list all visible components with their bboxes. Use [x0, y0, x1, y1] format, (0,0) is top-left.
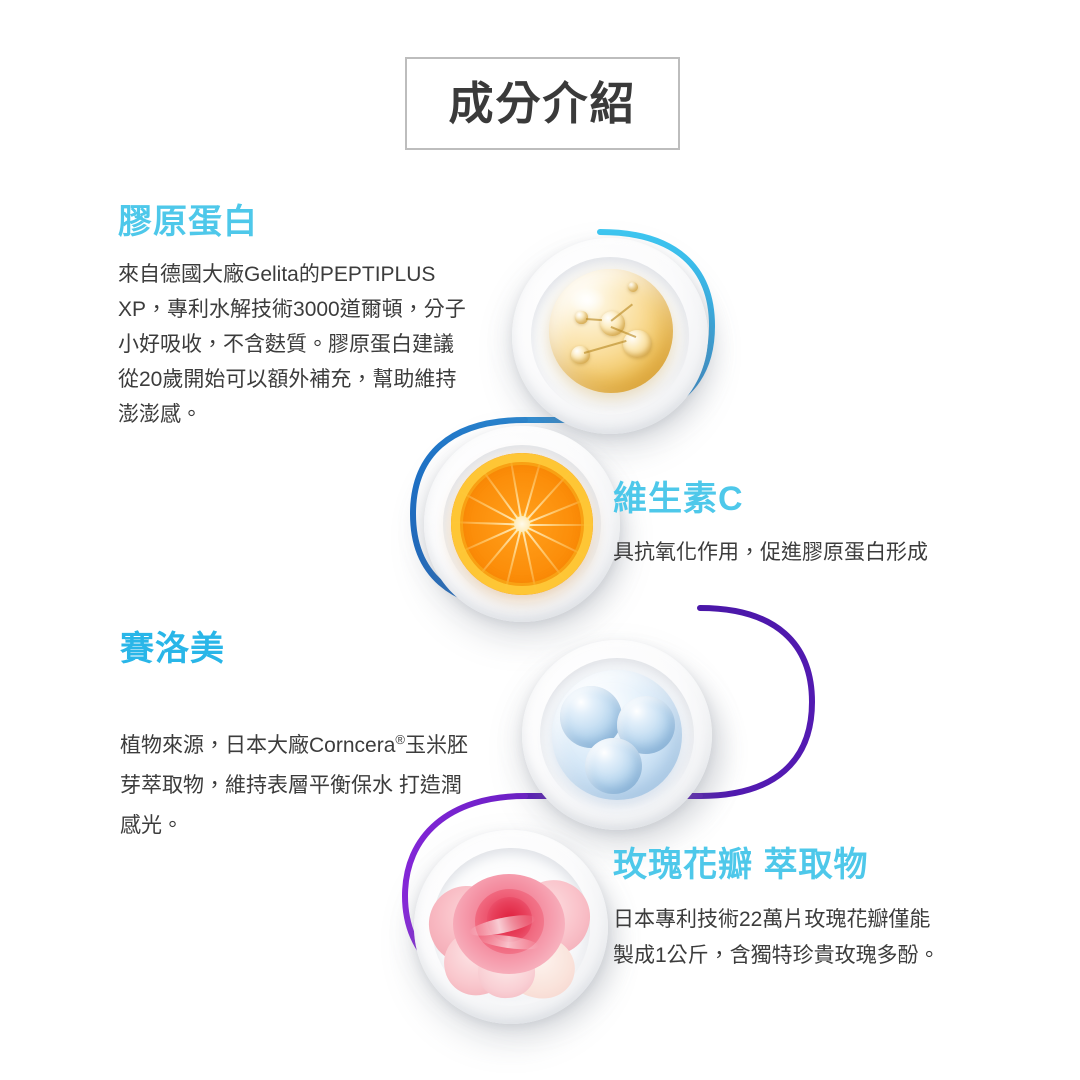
rose-petal-dish: [414, 830, 608, 1024]
ingredient-infographic: 成分介紹: [0, 0, 1080, 1080]
collagen-droplet-icon: [549, 269, 672, 392]
section-ceramide-body: 植物來源，日本大廠Corncera®玉米胚 芽萃取物，維持表層平衡保水 打造潤 …: [120, 686, 530, 846]
collagen-droplet-dish: [512, 238, 708, 434]
section-collagen: 膠原蛋白 來自德國大廠Gelita的PEPTIPLUS XP，專利水解技術300…: [118, 205, 518, 432]
orange-slice-dish: [424, 426, 620, 622]
section-ceramide-body-part-1: 植物來源，日本大廠Corncera: [120, 734, 395, 757]
section-collagen-heading: 膠原蛋白: [118, 205, 518, 239]
orange-slice-icon: [451, 453, 592, 594]
section-rose-extract: 玫瑰花瓣 萃取物 日本專利技術22萬片玫瑰花瓣僅能 製成1公斤，含獨特珍貴玫瑰多…: [613, 848, 1013, 974]
registered-trademark-icon: ®: [395, 732, 405, 747]
page-title-box: 成分介紹: [405, 57, 680, 150]
section-vitamin-c-heading: 維生素C: [613, 482, 1013, 516]
rose-flower-icon: [435, 853, 586, 1000]
section-vitamin-c: 維生素C 具抗氧化作用，促進膠原蛋白形成: [613, 482, 1013, 570]
section-rose-extract-heading: 玫瑰花瓣 萃取物: [613, 848, 1013, 882]
section-collagen-body: 來自德國大廠Gelita的PEPTIPLUS XP，專利水解技術3000道爾頓，…: [118, 257, 518, 432]
section-rose-extract-body: 日本專利技術22萬片玫瑰花瓣僅能 製成1公斤，含獨特珍貴玫瑰多酚。: [613, 902, 1013, 974]
ceramide-spheres-dish: [522, 640, 712, 830]
section-ceramide-heading: 賽洛美: [120, 632, 530, 666]
ceramide-spheres-icon: [552, 670, 681, 799]
page-title: 成分介紹: [448, 81, 636, 126]
section-vitamin-c-body: 具抗氧化作用，促進膠原蛋白形成: [613, 536, 1013, 570]
section-ceramide: 賽洛美 植物來源，日本大廠Corncera®玉米胚 芽萃取物，維持表層平衡保水 …: [120, 632, 530, 846]
